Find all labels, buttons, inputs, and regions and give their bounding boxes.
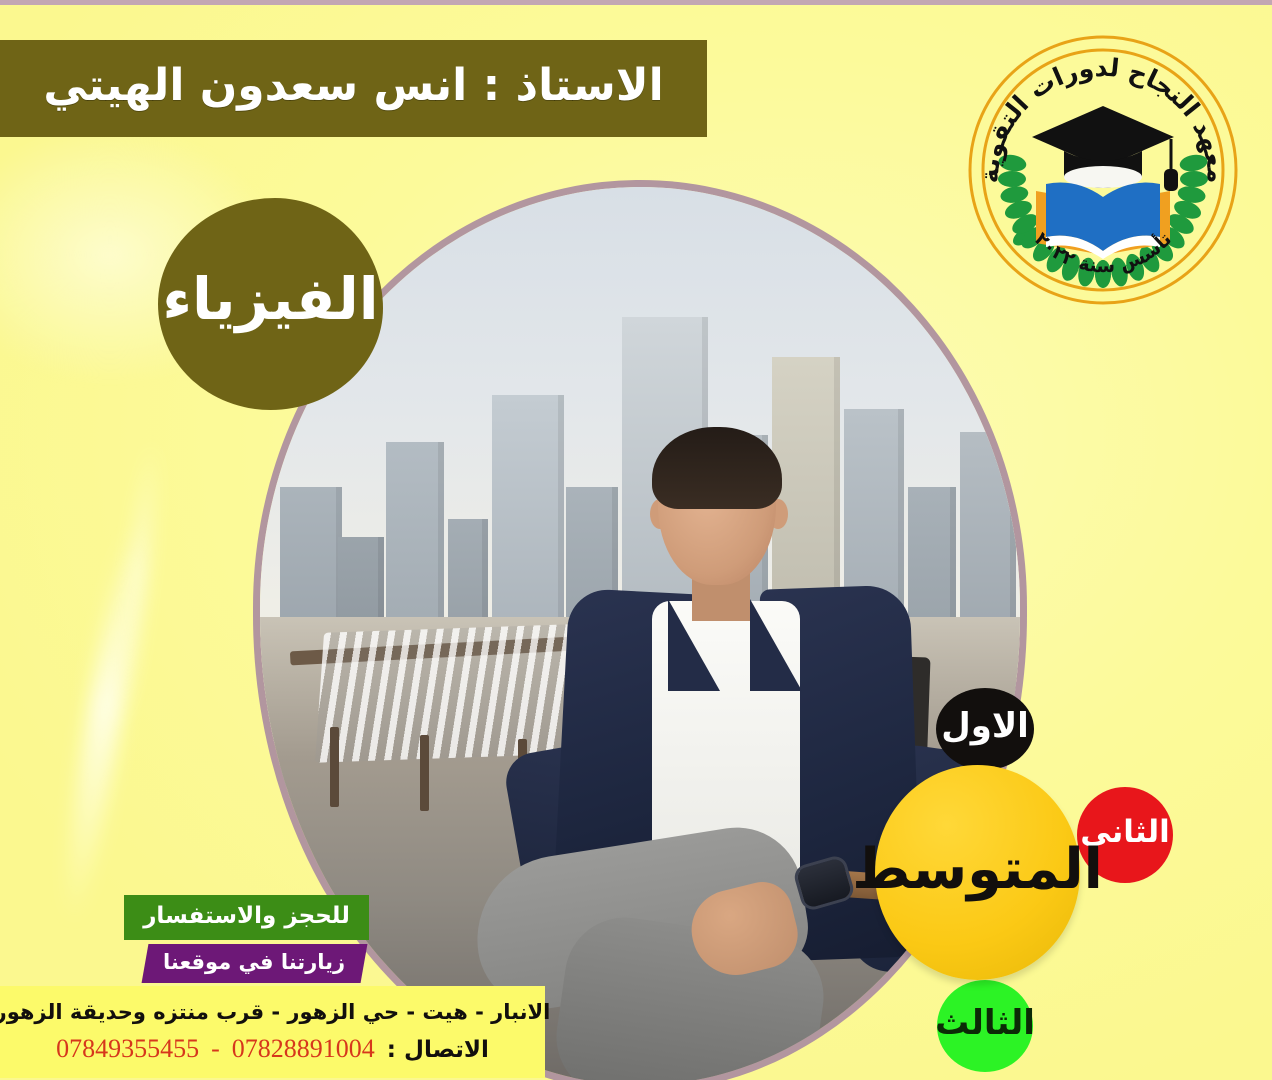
visit-banner: زيارتنا في موقعنا <box>142 944 368 983</box>
grade-circle-first[interactable]: الاول <box>936 688 1034 770</box>
grade-first-label: الاول <box>941 706 1029 752</box>
contact-label: الاتصال : <box>387 1037 489 1063</box>
poster-canvas: الاستاذ : انس سعدون الهيتي الفيزياء <box>0 0 1272 1080</box>
phone-secondary[interactable]: 07849355455 <box>56 1034 199 1064</box>
grade-middle-label: المتوسط <box>852 837 1103 908</box>
phone-separator: - <box>211 1034 220 1064</box>
phone-line: الاتصال : 07828891004 - 07849355455 <box>56 1034 489 1064</box>
contact-box: الانبار - هيت - حي الزهور - قرب منتزه وح… <box>0 986 545 1078</box>
booking-label: للحجز والاستفسار <box>143 903 350 933</box>
subject-badge: الفيزياء <box>158 198 383 410</box>
teacher-name-banner: الاستاذ : انس سعدون الهيتي <box>0 40 707 137</box>
visit-label: زيارتنا في موقعنا <box>163 950 345 977</box>
grade-third-label: الثالث <box>935 1003 1035 1049</box>
booking-banner: للحجز والاستفسار <box>124 895 369 940</box>
phone-primary[interactable]: 07828891004 <box>232 1034 375 1064</box>
grade-circle-middle[interactable]: المتوسط <box>875 765 1080 980</box>
institute-logo: معهد النجاح لدورات التقوية تأسس سنة ٢٠٢٢ <box>964 31 1242 309</box>
subject-label: الفيزياء <box>162 265 378 343</box>
photo-hair <box>652 427 782 509</box>
grade-circle-third[interactable]: الثالث <box>937 980 1033 1072</box>
teacher-name-text: الاستاذ : انس سعدون الهيتي <box>43 60 663 117</box>
photo-lapel-right <box>750 599 802 691</box>
address-line: الانبار - هيت - حي الزهور - قرب منتزه وح… <box>0 1000 550 1026</box>
